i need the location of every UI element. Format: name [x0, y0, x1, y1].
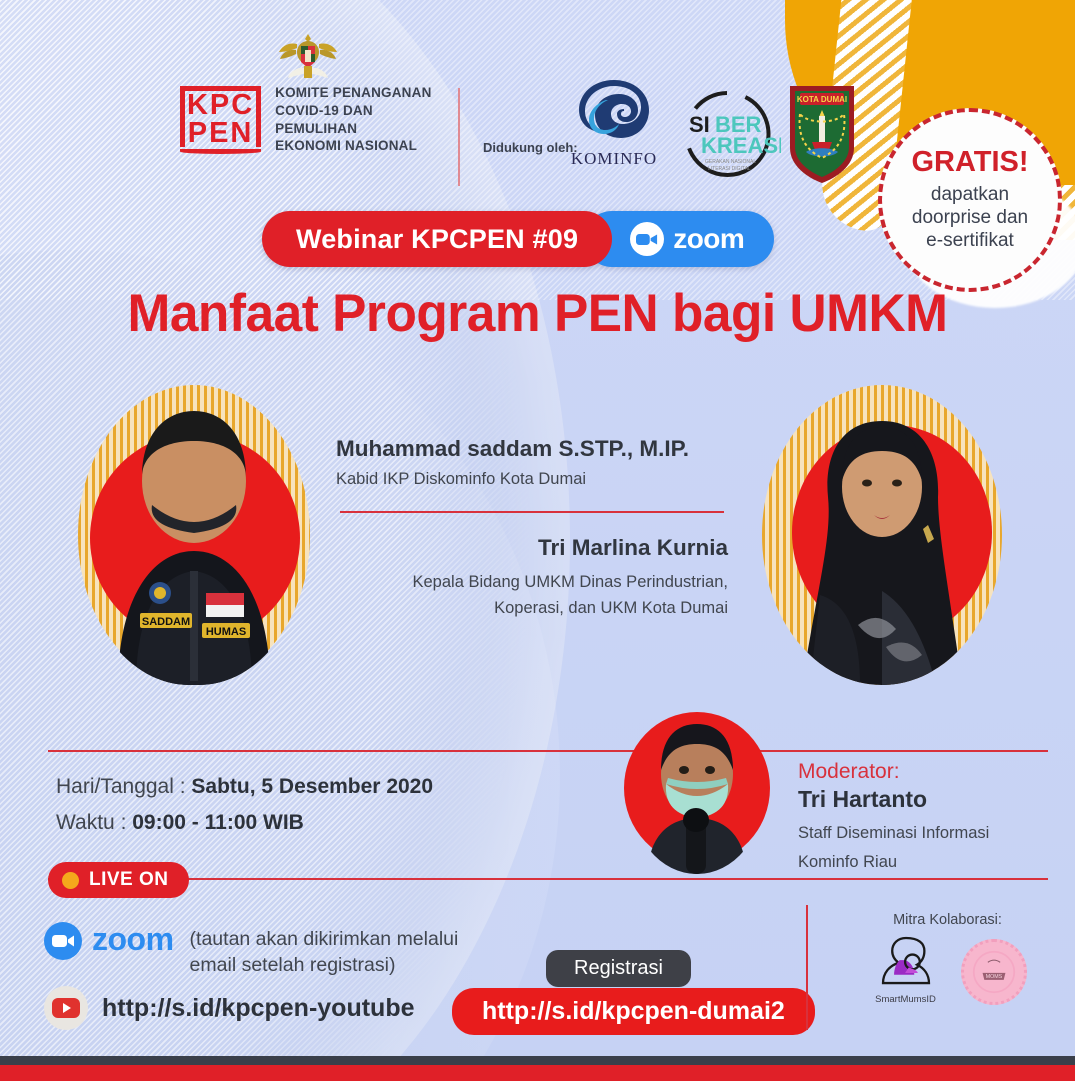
- svg-text:LITERASI DIGITAL: LITERASI DIGITAL: [708, 166, 751, 172]
- kpcpen-name-line-1: KOMITE PENANGANAN: [275, 84, 438, 102]
- partners-divider: [806, 905, 808, 1030]
- garuda-emblem-icon: [277, 30, 339, 82]
- kpcpen-full-name: KOMITE PENANGANAN COVID-19 DAN PEMULIHAN…: [275, 84, 438, 155]
- svg-text:GERAKAN NASIONAL: GERAKAN NASIONAL: [705, 159, 756, 165]
- schedule-rule-bottom: [48, 878, 1048, 880]
- speaker-2-role-line-1: Kepala Bidang UMKM Dinas Perindustrian,: [336, 569, 728, 595]
- gratis-subtitle: dapatkan doorprise dan e-sertifikat: [912, 183, 1028, 253]
- live-on-label: LIVE ON: [89, 869, 169, 891]
- schedule-time-value: 09:00 - 11:00 WIB: [132, 811, 304, 834]
- moderator-role-line-2: Kominfo Riau: [798, 848, 1048, 877]
- speaker-1-photo: SADDAM HUMAS: [78, 385, 310, 685]
- supported-by-label: Didukung oleh:: [483, 140, 578, 155]
- video-camera-icon: [44, 922, 82, 960]
- schedule-date-value: Sabtu, 5 Desember 2020: [191, 775, 433, 798]
- gratis-title: GRATIS!: [911, 148, 1028, 177]
- webinar-poster: KPC PEN KOMITE PENANGANAN COVID-19 DAN P…: [0, 0, 1075, 1081]
- zoom-footer-row: zoom (tautan akan dikirimkan melalui ema…: [44, 920, 458, 979]
- speaker-2-role: Kepala Bidang UMKM Dinas Perindustrian, …: [336, 569, 728, 622]
- kpcpen-mark-line-2: PEN: [178, 119, 263, 147]
- schedule-date-row: Hari/Tanggal : Sabtu, 5 Desember 2020: [56, 775, 433, 799]
- svg-text:HUMAS: HUMAS: [206, 626, 246, 638]
- poster-title: Manfaat Program PEN bagi UMKM: [16, 283, 1059, 344]
- gratis-line-3: e-sertifikat: [912, 229, 1028, 252]
- smartmums-caption: SmartMumsID: [869, 994, 943, 1005]
- partners-logos: SmartMumsID MOMS: [840, 934, 1055, 1005]
- zoom-link-note: (tautan akan dikirimkan melalui email se…: [190, 926, 459, 979]
- video-camera-icon: [630, 222, 664, 256]
- kominfo-wordmark: KOMINFO: [566, 149, 662, 169]
- bottom-gray-bar: [0, 1056, 1075, 1065]
- youtube-icon: [44, 986, 88, 1030]
- zoom-wordmark: zoom: [92, 921, 174, 958]
- youtube-link[interactable]: http://s.id/kpcpen-youtube: [102, 994, 415, 1023]
- kota-dumai-logo: KOTA DUMAI: [786, 80, 858, 185]
- moderator-block: Moderator: Tri Hartanto Staff Diseminasi…: [798, 760, 1048, 877]
- webinar-banner-row: Webinar KPCPEN #09 zoom: [262, 211, 774, 267]
- youtube-row[interactable]: http://s.id/kpcpen-youtube: [44, 986, 415, 1030]
- webinar-label-pill: Webinar KPCPEN #09: [262, 211, 612, 267]
- siber-kreasi-logo: SI BER KREASI GERAKAN NASIONAL LITERASI …: [675, 88, 781, 180]
- poster-header: KPC PEN KOMITE PENANGANAN COVID-19 DAN P…: [0, 28, 1075, 178]
- smartmums-logo: SmartMumsID: [869, 934, 943, 1005]
- moms-community-badge: MOMS: [961, 939, 1027, 1005]
- schedule-time-row: Waktu : 09:00 - 11:00 WIB: [56, 811, 433, 835]
- live-on-badge: LIVE ON: [48, 862, 189, 898]
- kpcpen-name-line-2: COVID-19 DAN PEMULIHAN: [275, 102, 438, 138]
- kpcpen-logo-block: KPC PEN KOMITE PENANGANAN COVID-19 DAN P…: [178, 30, 438, 155]
- zoom-wordmark: zoom: [673, 223, 744, 255]
- gratis-line-1: dapatkan: [912, 183, 1028, 206]
- speaker-2-photo: [762, 385, 1002, 685]
- speaker-2-portrait: [762, 385, 1002, 685]
- moderator-label: Moderator:: [798, 760, 1048, 784]
- zoom-platform-pill[interactable]: zoom: [584, 211, 774, 267]
- schedule-rule-top: [48, 750, 1048, 752]
- moderator-photo: [624, 712, 770, 874]
- kpcpen-mark: KPC PEN: [178, 86, 263, 154]
- gratis-line-2: doorprise dan: [912, 206, 1028, 229]
- moderator-role-line-1: Staff Diseminasi Informasi: [798, 819, 1048, 848]
- svg-text:KOTA DUMAI: KOTA DUMAI: [797, 95, 847, 104]
- speakers-text-block: Muhammad saddam S.STP., M.IP. Kabid IKP …: [336, 436, 728, 622]
- zoom-note-line-1: (tautan akan dikirimkan melalui: [190, 926, 459, 952]
- speaker-2-role-line-2: Koperasi, dan UKM Kota Dumai: [336, 595, 728, 621]
- schedule-block: Hari/Tanggal : Sabtu, 5 Desember 2020 Wa…: [56, 775, 433, 847]
- moderator-role: Staff Diseminasi Informasi Kominfo Riau: [798, 819, 1048, 877]
- kpcpen-lockup: KPC PEN KOMITE PENANGANAN COVID-19 DAN P…: [178, 84, 438, 155]
- speaker-1-name: Muhammad saddam S.STP., M.IP.: [336, 436, 728, 462]
- speaker-1-portrait: SADDAM HUMAS: [78, 385, 310, 685]
- svg-text:KREASI: KREASI: [701, 133, 781, 158]
- speaker-1-role: Kabid IKP Diskominfo Kota Dumai: [336, 470, 728, 489]
- schedule-date-label: Hari/Tanggal :: [56, 775, 191, 798]
- bottom-red-bar: [0, 1065, 1075, 1081]
- moderator-portrait: [630, 712, 764, 874]
- kominfo-mark-icon: [575, 76, 653, 148]
- schedule-time-label: Waktu :: [56, 811, 132, 834]
- header-divider: [458, 88, 460, 186]
- speaker-2-name: Tri Marlina Kurnia: [336, 535, 728, 561]
- speakers-divider: [340, 511, 724, 513]
- kpcpen-name-line-3: EKONOMI NASIONAL: [275, 137, 438, 155]
- moms-badge-caption: MOMS: [985, 974, 1002, 980]
- partners-label: Mitra Kolaborasi:: [840, 912, 1055, 928]
- live-indicator-dot: [62, 872, 79, 889]
- kominfo-logo: KOMINFO: [566, 76, 662, 181]
- svg-text:SADDAM: SADDAM: [142, 616, 190, 628]
- partners-block: Mitra Kolaborasi: SmartMumsID MOMS: [840, 912, 1055, 1005]
- registration-label: Registrasi: [546, 950, 691, 987]
- zoom-note-line-2: email setelah registrasi): [190, 952, 459, 978]
- kpcpen-mark-line-1: KPC: [178, 91, 263, 119]
- moderator-name: Tri Hartanto: [798, 786, 1048, 813]
- registration-link[interactable]: http://s.id/kpcpen-dumai2: [452, 988, 815, 1035]
- gratis-badge: GRATIS! dapatkan doorprise dan e-sertifi…: [878, 108, 1062, 292]
